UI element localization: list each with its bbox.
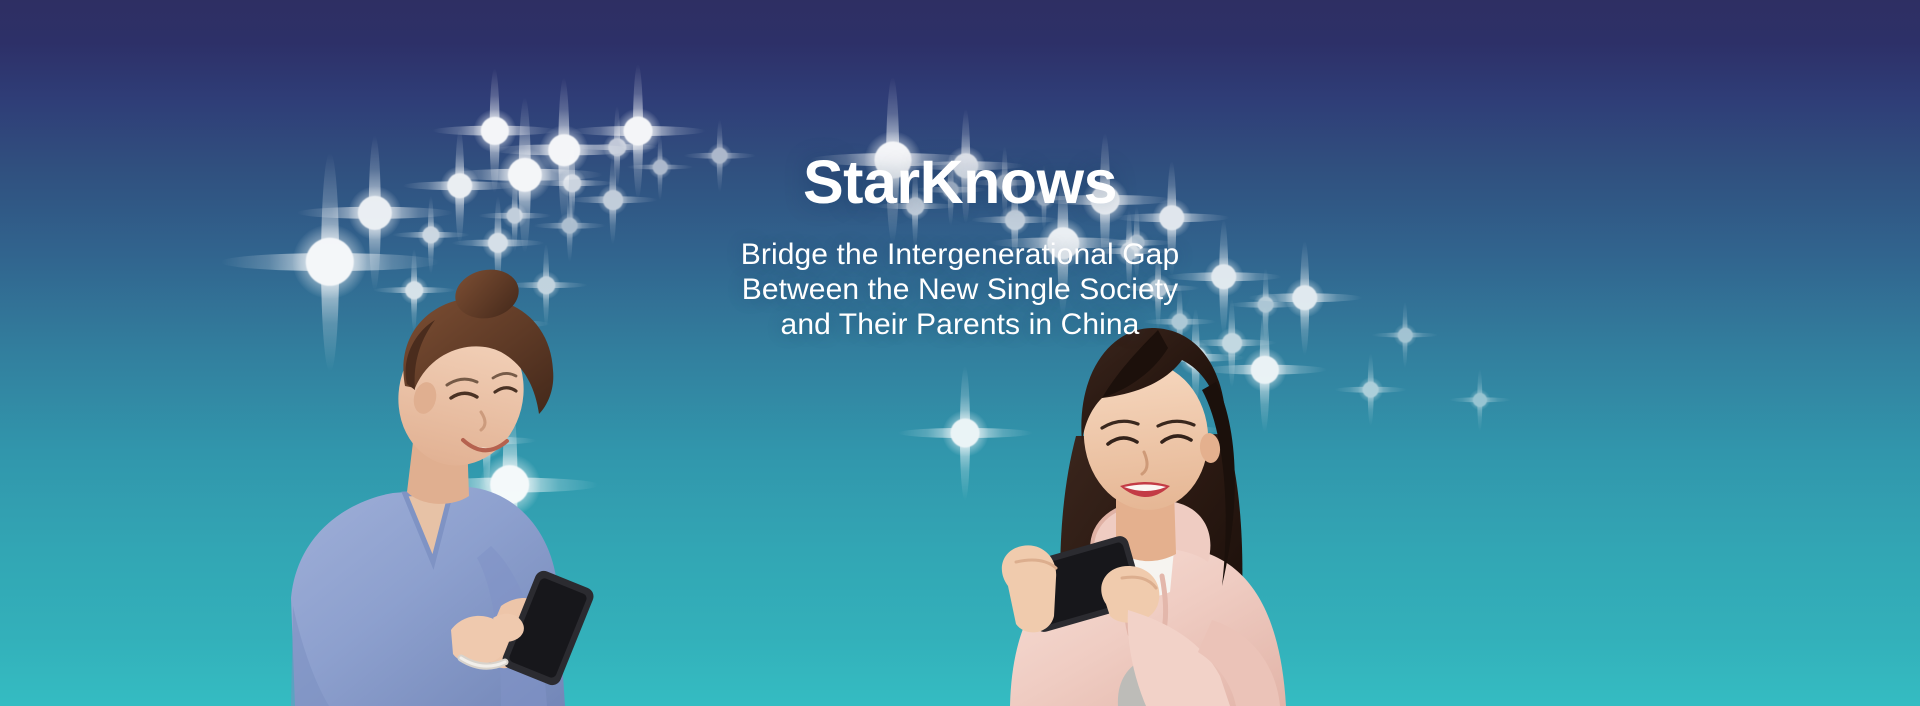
hero-copy: StarKnows Bridge the Intergenerational G… — [550, 150, 1370, 342]
hero-subtitle-line-1: Bridge the Intergenerational Gap — [550, 237, 1370, 272]
four-point-star-icon — [1449, 369, 1511, 431]
hero-banner: StarKnows Bridge the Intergenerational G… — [0, 0, 1920, 706]
older-woman-with-phone — [255, 246, 585, 706]
four-point-star-icon — [479, 180, 552, 253]
four-point-star-icon — [1371, 301, 1439, 369]
four-point-star-icon — [433, 69, 558, 194]
hero-subtitle: Bridge the Intergenerational Gap Between… — [550, 237, 1370, 342]
hero-subtitle-line-3: and Their Parents in China — [550, 307, 1370, 342]
hero-subtitle-line-2: Between the New Single Society — [550, 272, 1370, 307]
page-title: StarKnows — [550, 150, 1370, 215]
four-point-star-icon — [403, 129, 517, 243]
young-woman-with-phone — [930, 286, 1350, 706]
